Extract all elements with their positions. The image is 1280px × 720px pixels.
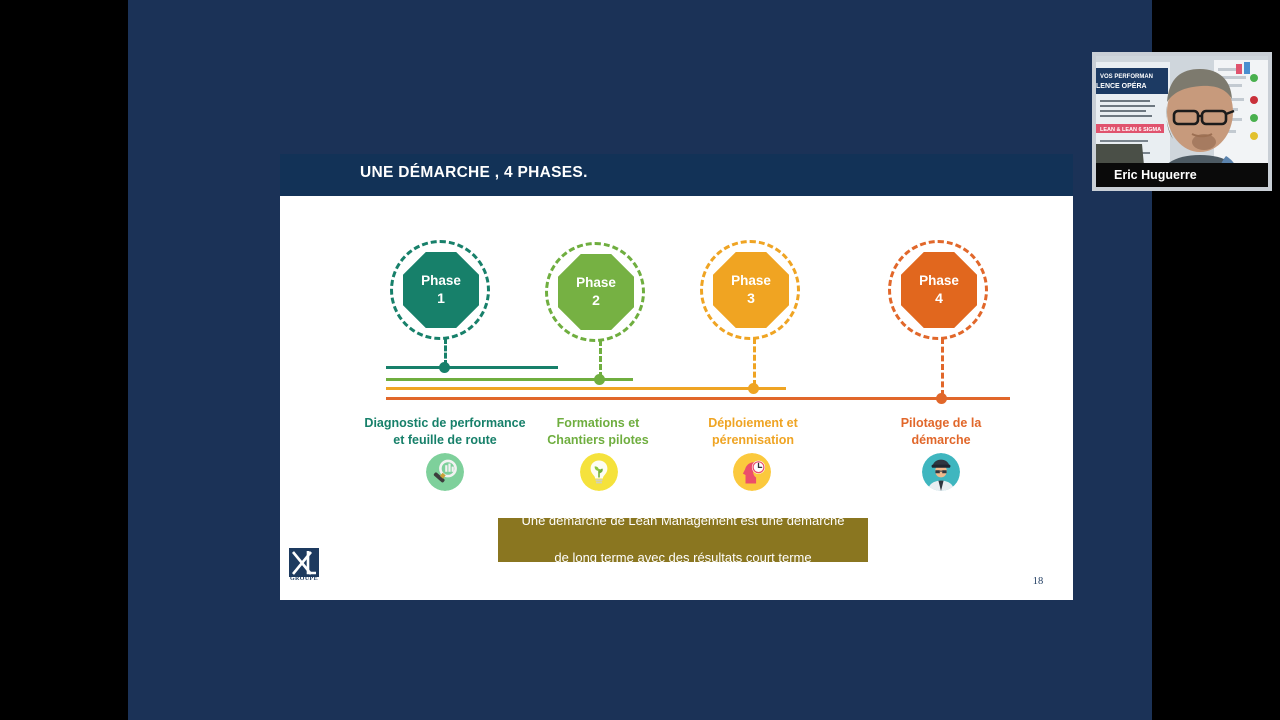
phase-octagon-4: Phase 4 (901, 252, 977, 328)
phase-caption-3: Déploiement et pérennisation (687, 415, 819, 448)
timeline-line-1 (386, 366, 558, 369)
timeline-dot-4 (936, 393, 947, 404)
phase-label-3: Phase (731, 273, 771, 289)
banner-line-1: Une démarche de Lean Management est une … (513, 512, 852, 531)
phase-caption-4-line2: démarche (875, 432, 1007, 449)
svg-text:VOS PERFORMAN: VOS PERFORMAN (1100, 74, 1153, 80)
page-title: UNE DÉMARCHE , 4 PHASES. (360, 164, 588, 182)
timeline-dot-3 (748, 383, 759, 394)
timeline-line-4 (386, 397, 1010, 400)
logo-mark-xl (289, 548, 319, 577)
logo-wordmark: GROUPE (288, 576, 320, 582)
screen: UNE DÉMARCHE , 4 PHASES. Phase 1 Phase 2 (0, 0, 1280, 720)
phase-number-2: 2 (592, 292, 600, 309)
phase-caption-3-line1: Déploiement et (687, 415, 819, 432)
phase-connector-2 (599, 340, 602, 378)
participant-name-label: Eric Huguerre (1096, 163, 1268, 187)
xl-groupe-logo: GROUPE (289, 548, 319, 585)
phase-number-1: 1 (437, 290, 445, 307)
timeline-dot-1 (439, 362, 450, 373)
phase-octagon-2: Phase 2 (558, 254, 634, 330)
phase-caption-3-line2: pérennisation (687, 432, 819, 449)
timeline-dot-2 (594, 374, 605, 385)
phase-connector-4 (941, 338, 944, 396)
phase-node-1[interactable]: Phase 1 (390, 240, 494, 344)
phase-octagon-3: Phase 3 (713, 252, 789, 328)
svg-text:LEAN & LEAN 6 SIGMA: LEAN & LEAN 6 SIGMA (1100, 127, 1161, 133)
phase-node-4[interactable]: Phase 4 (888, 240, 992, 344)
phase-label-1: Phase (421, 273, 461, 289)
phase-caption-1: Diagnostic de performance et feuille de … (352, 415, 538, 448)
phase-caption-2-line2: Chantiers pilotes (532, 432, 664, 449)
webcam-tile[interactable]: VOS PERFORMAN LENCE OPÉRA LEAN & LEAN 6 … (1092, 52, 1272, 191)
phase-caption-1-line2: et feuille de route (352, 432, 538, 449)
head-clock-icon (733, 453, 771, 491)
svg-text:LENCE OPÉRA: LENCE OPÉRA (1096, 81, 1147, 90)
phase-number-4: 4 (935, 290, 943, 307)
phase-caption-2: Formations et Chantiers pilotes (532, 415, 664, 448)
phase-caption-4-line1: Pilotage de la (875, 415, 1007, 432)
phase-label-2: Phase (576, 275, 616, 291)
slide-page-number: 18 (1025, 576, 1051, 587)
phase-number-3: 3 (747, 290, 755, 307)
webcam-video: VOS PERFORMAN LENCE OPÉRA LEAN & LEAN 6 … (1096, 56, 1268, 187)
webinar-stage: UNE DÉMARCHE , 4 PHASES. Phase 1 Phase 2 (128, 0, 1152, 720)
phase-node-2[interactable]: Phase 2 (545, 242, 649, 346)
phase-caption-4: Pilotage de la démarche (875, 415, 1007, 448)
key-message-banner: Une démarche de Lean Management est une … (498, 518, 868, 562)
phase-node-3[interactable]: Phase 3 (700, 240, 804, 344)
lightbulb-plant-icon (580, 453, 618, 491)
phase-label-4: Phase (919, 273, 959, 289)
banner-line-2: de long terme avec des résultats court t… (513, 549, 852, 568)
phase-connector-3 (753, 338, 756, 386)
phase-caption-2-line1: Formations et (532, 415, 664, 432)
participant-name: Eric Huguerre (1096, 168, 1197, 182)
pilot-avatar-icon (922, 453, 960, 491)
phase-caption-1-line1: Diagnostic de performance (352, 415, 538, 432)
timeline-line-3 (386, 387, 786, 390)
magnifier-gear-icon (426, 453, 464, 491)
